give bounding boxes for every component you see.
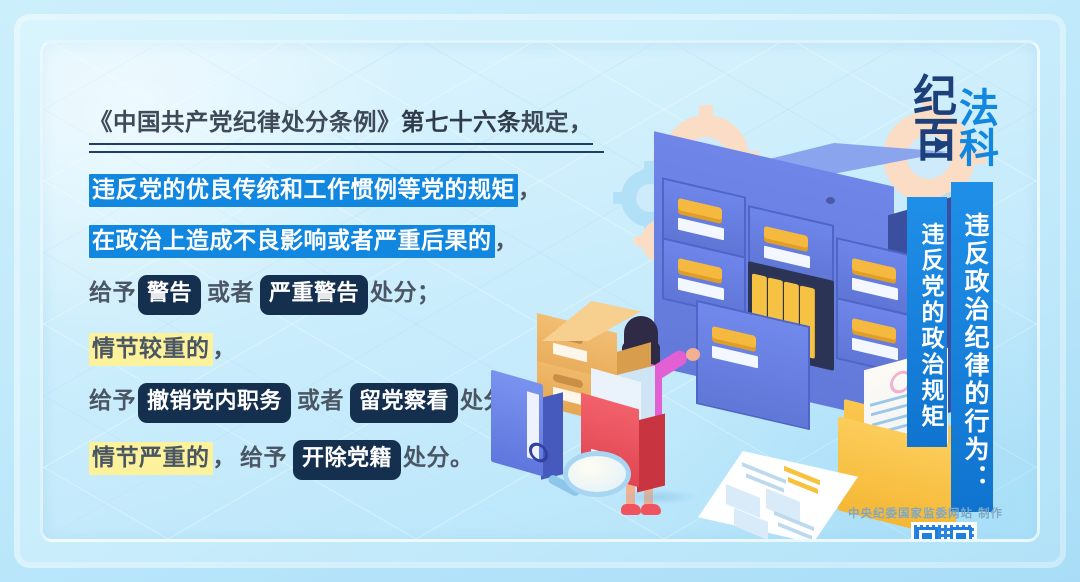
magnifier-lens [563, 451, 631, 497]
qr-finder-top-right [950, 527, 972, 542]
article-number: 第七十六条 [401, 108, 521, 136]
vertical-banner-primary: 违反政治纪律的行为： [951, 182, 993, 512]
line5-punct: ， [213, 336, 237, 362]
line4-suffix: 处分； [370, 280, 441, 306]
clause-1-highlight: 违反党的优良传统和工作惯例等党的规矩 [89, 174, 518, 207]
brand-logo: 纪 法 百 科 [913, 75, 1017, 173]
line6-conjunction: 或者 [293, 384, 348, 418]
poster-outer-frame: 《中国共产党纪律处分条例》第七十六条规定， 违反党的优良传统和工作惯例等党的规矩… [14, 14, 1066, 568]
penalty-badge-removal-post: 撤销党内职务 [138, 383, 291, 423]
severity-severe-highlight: 情节严重的 [89, 442, 213, 475]
credit-text: 中央纪委国家监委网站 制作 [848, 505, 1003, 521]
severity-moderate-highlight: 情节较重的 [89, 333, 213, 366]
qr-code[interactable] [911, 522, 977, 542]
poster-canvas: 《中国共产党纪律处分条例》第七十六条规定， 违反党的优良传统和工作惯例等党的规矩… [0, 0, 1080, 582]
poster-inner-panel: 《中国共产党纪律处分条例》第七十六条规定， 违反党的优良传统和工作惯例等党的规矩… [40, 40, 1040, 542]
penalty-badge-expulsion: 开除党籍 [293, 440, 401, 480]
line4-conjunction: 或者 [203, 276, 258, 310]
person-shoe [641, 504, 661, 515]
line7-prefix: 给予 [236, 441, 291, 475]
line7-suffix: 处分。 [403, 445, 474, 471]
magnifier-icon [551, 451, 637, 511]
file-holder-side [637, 414, 665, 493]
line7-punct: ， [213, 445, 237, 471]
qr-finder-top-left [916, 527, 938, 542]
logo-char-fa: 法 [959, 89, 999, 129]
cabinet-knob [826, 197, 835, 204]
clause-2-highlight: 在政治上造成不良影响或者严重后果的 [89, 225, 495, 258]
play-triangle-icon [935, 137, 948, 153]
line4-prefix: 给予 [89, 280, 136, 306]
logo-char-ke: 科 [959, 129, 999, 169]
person-hand [686, 348, 700, 361]
floor-document-sheet [698, 451, 858, 542]
line6-prefix: 给予 [89, 388, 136, 414]
right-side-rail: 纪 法 百 科 违反党的政治规矩 违反政治纪律的行为： [895, 57, 1025, 542]
penalty-badge-probation: 留党察看 [350, 383, 458, 423]
penalty-badge-serious-warning: 严重警告 [260, 275, 368, 315]
vertical-banner-secondary: 违反党的政治规矩 [907, 197, 947, 447]
penalty-badge-warning: 警告 [138, 275, 201, 315]
regulation-quote-title: 《中国共产党纪律处分条例》 [89, 108, 401, 136]
